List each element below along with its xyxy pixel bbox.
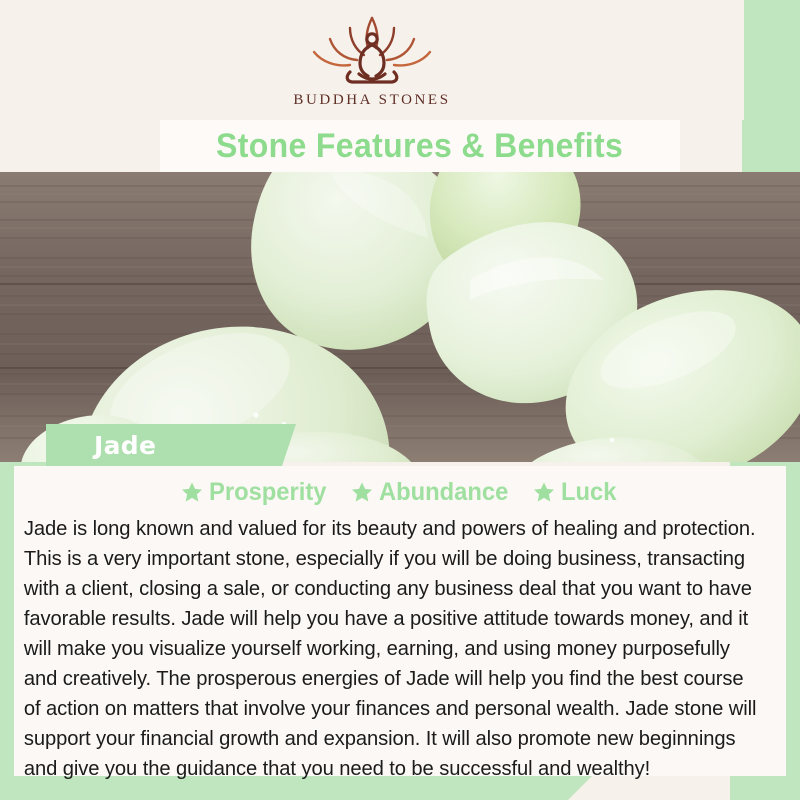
logo: BUDDHA STONES: [293, 12, 450, 109]
page-title: Stone Features & Benefits: [216, 127, 623, 166]
stone-description: Jade is long known and valued for its be…: [14, 512, 774, 784]
stone-name-banner: Jade: [46, 424, 296, 466]
jade-stones-image: [0, 172, 800, 462]
star-icon: [181, 481, 203, 503]
benefit-label: Abundance: [379, 478, 508, 507]
stone-photo: [0, 172, 800, 462]
title-banner: Stone Features & Benefits: [160, 120, 680, 172]
infographic-page: BUDDHA STONES Stone Features & Benefits: [0, 0, 800, 800]
star-icon: [351, 481, 373, 503]
benefit-label: Prosperity: [209, 478, 326, 507]
benefit-item: Abundance: [351, 478, 515, 507]
star-icon: [533, 481, 555, 503]
content-panel: Prosperity Abundance Luck Jade is long k…: [14, 466, 786, 776]
logo-text: BUDDHA STONES: [293, 92, 450, 109]
benefit-item: Prosperity: [181, 478, 333, 507]
benefit-label: Luck: [561, 478, 616, 507]
benefit-item: Luck: [533, 478, 619, 507]
lotus-meditation-icon: [306, 12, 438, 90]
brand-header: BUDDHA STONES: [0, 0, 744, 120]
stone-name: Jade: [46, 431, 156, 460]
benefits-row: Prosperity Abundance Luck: [14, 472, 786, 512]
